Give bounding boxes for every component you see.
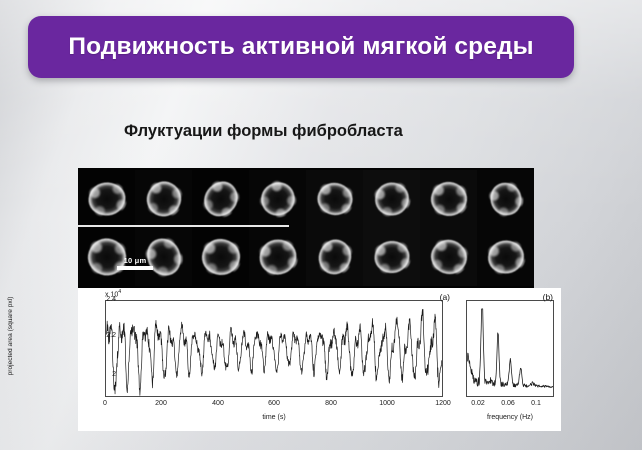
title-banner: Подвижность активной мягкой среды: [28, 16, 574, 78]
page-title: Подвижность активной мягкой среды: [68, 33, 533, 61]
fibroblast-cell-icon: [373, 240, 410, 274]
cell-image-frame: [363, 228, 420, 286]
exponent-power: 4: [118, 289, 121, 295]
cell-image-frame: [192, 170, 249, 228]
scale-bar: 10 μm: [107, 256, 163, 270]
panel-a-x-axis-label: time (s): [105, 414, 443, 421]
spectrum-line: [467, 309, 553, 388]
fibroblast-cell-icon: [425, 234, 471, 279]
montage-row-divider: [78, 225, 289, 227]
panel-a-y-axis-label: projected area (square pxl): [7, 288, 18, 384]
panel-a-caption: (a): [440, 292, 450, 302]
chart-panel-b: (b) 0.02 0.06 0.1 frequency (Hz): [460, 288, 561, 431]
fibroblast-cell-icon: [197, 175, 244, 223]
fibroblast-cell-icon: [86, 181, 126, 218]
fibroblast-cell-icon: [429, 180, 468, 218]
cell-image-frame: [249, 228, 306, 286]
panel-a-ytick: 2.2: [92, 332, 116, 339]
panel-b-plot-area: [466, 300, 554, 397]
fibroblast-cell-icon: [485, 238, 525, 276]
fibroblast-cell-icon: [314, 236, 354, 278]
chart-panel-a: projected area (square pxl) x 104 (a) 2.…: [78, 288, 456, 431]
panel-b-xtick: 0.1: [521, 400, 551, 407]
scale-bar-line: [117, 266, 153, 270]
cell-image-frame: [477, 170, 534, 228]
panel-a-xtick: 600: [257, 400, 291, 407]
cell-image-frame: [78, 170, 135, 228]
microscopy-montage: 10 μm: [78, 168, 534, 288]
panel-b-spectrum-svg: [467, 301, 553, 396]
fibroblast-cell-icon: [254, 175, 301, 222]
panel-a-plot-area: [105, 300, 443, 397]
cell-image-frame: [249, 170, 306, 228]
panel-a-xtick: 1200: [426, 400, 460, 407]
panel-b-xtick: 0.02: [463, 400, 493, 407]
cell-image-frame: [420, 170, 477, 228]
cell-image-frame: [135, 170, 192, 228]
scale-bar-label: 10 μm: [107, 256, 163, 265]
panel-a-xtick: 200: [144, 400, 178, 407]
timeseries-line: [106, 309, 442, 395]
panel-b-caption: (b): [543, 292, 553, 302]
cell-image-frame: [420, 228, 477, 286]
cell-image-frame: [306, 170, 363, 228]
cell-image-frame: [192, 228, 249, 286]
panel-b-x-axis-label: frequency (Hz): [466, 414, 554, 421]
panel-a-ytick: 2.4: [92, 296, 116, 303]
presentation-slide: Подвижность активной мягкой среды Флукту…: [0, 0, 642, 450]
fibroblast-cell-icon: [371, 179, 412, 219]
panel-a-xtick: 0: [88, 400, 122, 407]
panel-a-ytick: 2: [92, 371, 116, 378]
figure-panel: 10 μm projected area (square pxl) x 104 …: [78, 168, 561, 431]
panel-a-xtick: 800: [314, 400, 348, 407]
panel-a-xtick: 400: [201, 400, 235, 407]
cell-image-frame: [306, 228, 363, 286]
panel-a-timeseries-svg: [106, 301, 442, 396]
fibroblast-cell-icon: [256, 237, 299, 278]
fibroblast-cell-icon: [200, 238, 240, 277]
subtitle-heading: Флуктуации формы фибробласта: [124, 122, 403, 141]
fibroblast-cell-icon: [314, 180, 355, 219]
fibroblast-cell-icon: [142, 177, 185, 221]
panel-b-xtick: 0.06: [493, 400, 523, 407]
plots-panel: projected area (square pxl) x 104 (a) 2.…: [78, 288, 561, 431]
cell-image-row-top: [78, 170, 534, 228]
fibroblast-cell-icon: [485, 178, 526, 220]
panel-a-xtick: 1000: [370, 400, 404, 407]
cell-image-frame: [477, 228, 534, 286]
cell-image-frame: [363, 170, 420, 228]
